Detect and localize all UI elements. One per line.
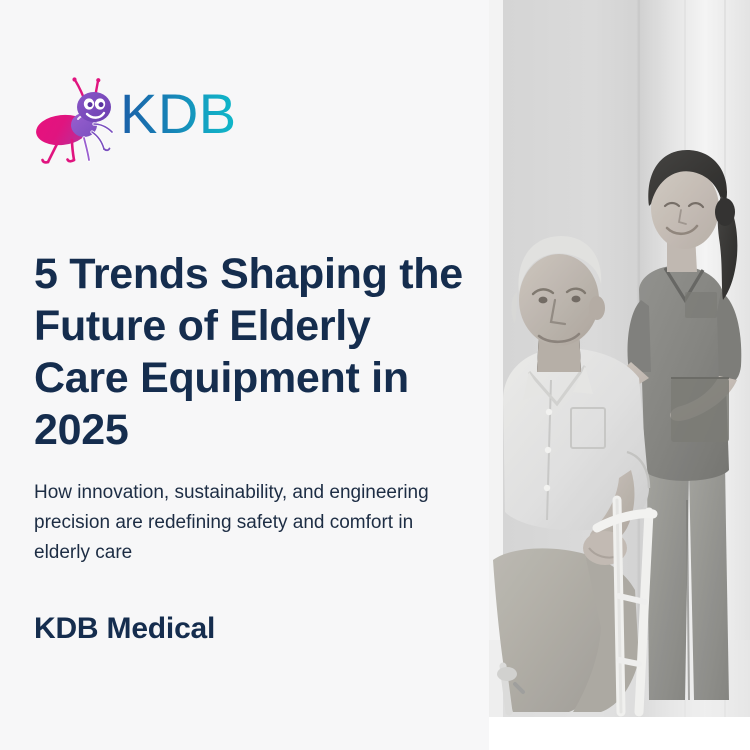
page-title: 5 Trends Shaping the Future of Elderly C… bbox=[34, 248, 464, 456]
poster-canvas: KDB 5 Trends Shaping the Future of Elder… bbox=[0, 0, 750, 750]
ant-mascot-icon bbox=[34, 74, 120, 166]
page-subtitle: How innovation, sustainability, and engi… bbox=[34, 478, 434, 568]
left-content-panel: KDB 5 Trends Shaping the Future of Elder… bbox=[0, 0, 489, 750]
brand-logo[interactable]: KDB bbox=[34, 74, 254, 166]
logo-wordmark: KDB bbox=[120, 86, 237, 142]
hero-photo bbox=[489, 0, 750, 717]
brand-footer-label: KDB Medical bbox=[34, 612, 215, 646]
